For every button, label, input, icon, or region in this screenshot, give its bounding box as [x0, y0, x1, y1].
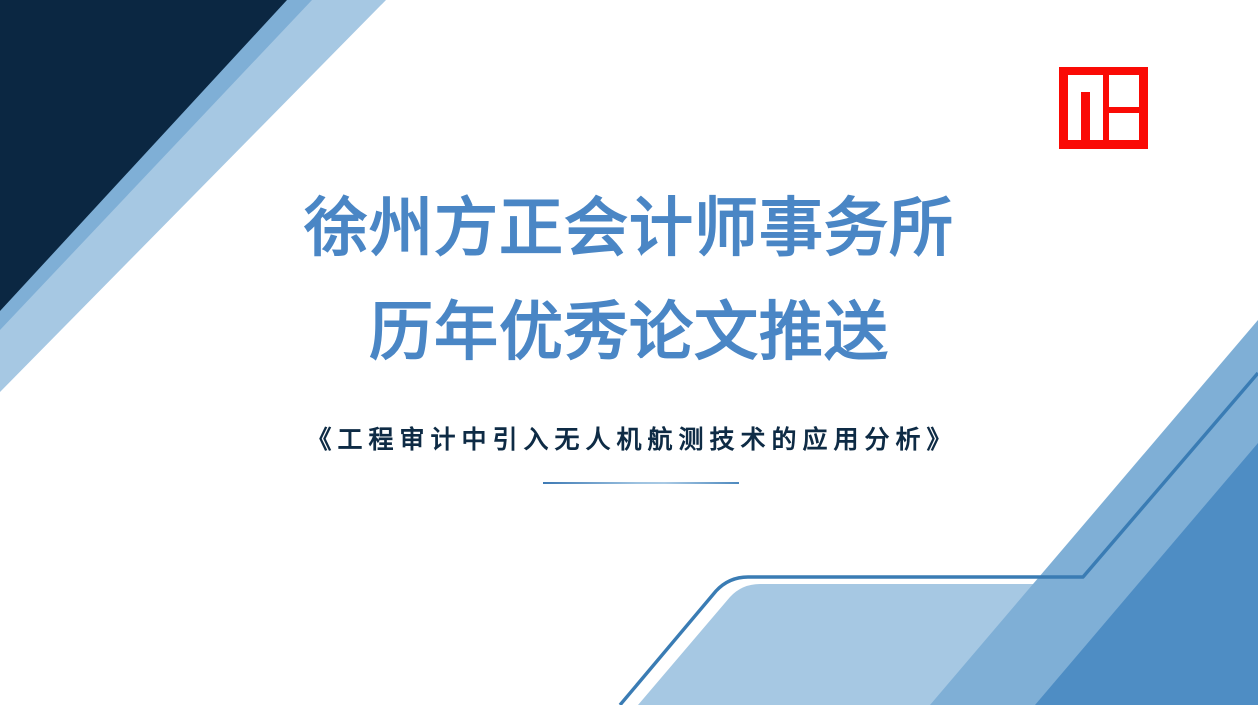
presentation-slide: 徐州方正会计师事务所 历年优秀论文推送 《工程审计中引入无人机航测技术的应用分析… [0, 0, 1258, 705]
company-logo [1059, 67, 1148, 149]
logo-mark-icon [1059, 67, 1148, 149]
